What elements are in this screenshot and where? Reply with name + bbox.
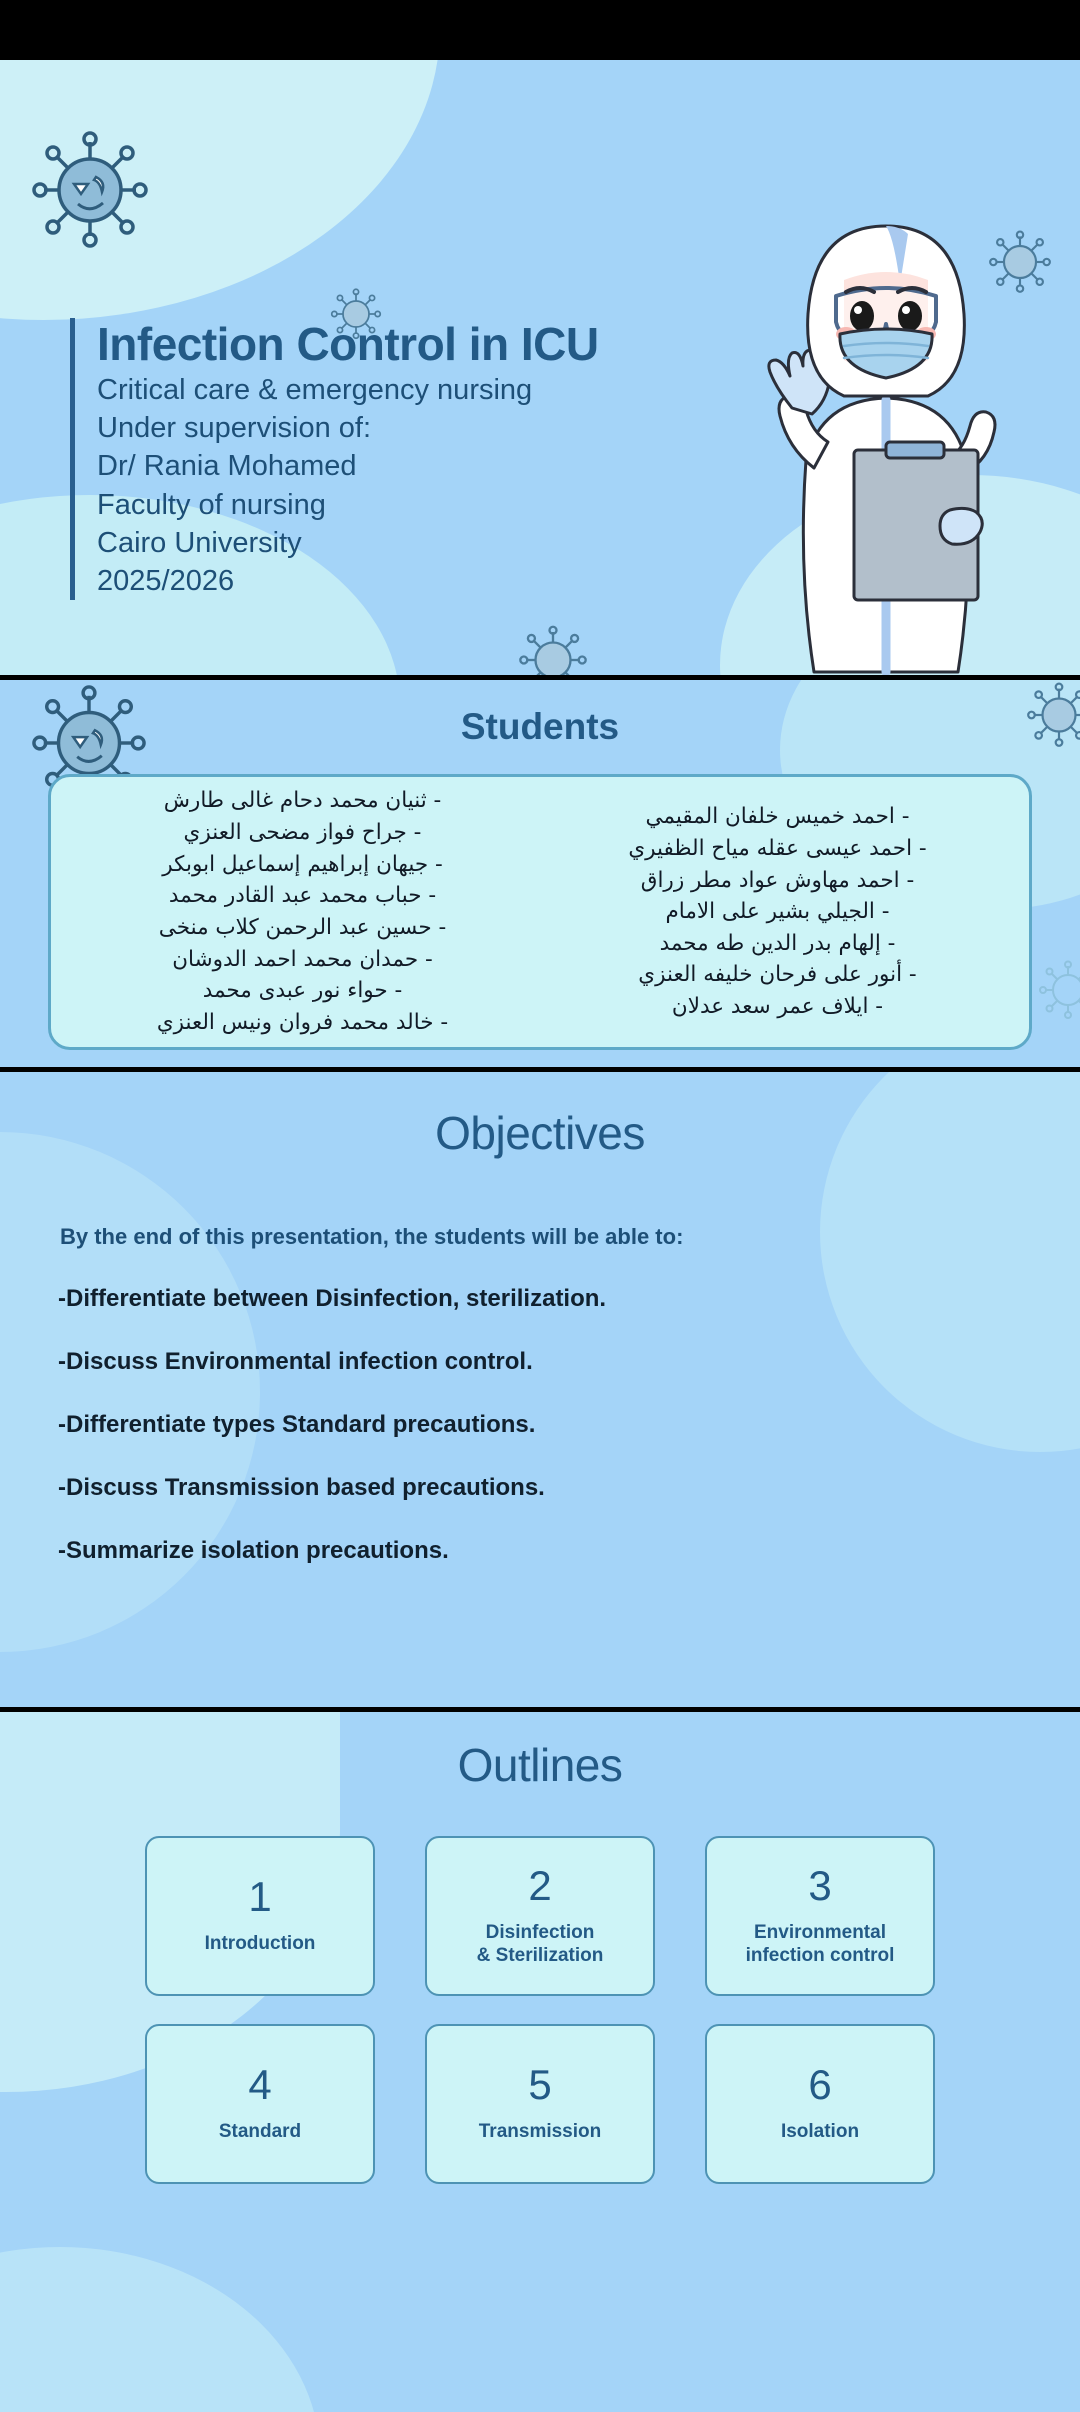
objective-item: -Discuss Environmental infection control…	[58, 1348, 1080, 1376]
ppe-healthcare-worker-illustration	[736, 210, 1036, 675]
students-heading: Students	[0, 680, 1080, 748]
list-item: - ثنيان محمد دحام غالى طارش	[65, 786, 540, 816]
students-card: - ثنيان محمد دحام غالى طارش - جراح فواز …	[48, 774, 1032, 1050]
background-blob-bottom-left	[0, 2247, 320, 2412]
objective-item: -Summarize isolation precautions.	[58, 1537, 1080, 1565]
outline-card-6[interactable]: 6 Isolation	[705, 2024, 935, 2184]
list-item: - ايلاف عمر سعد عدلان	[540, 992, 1015, 1022]
outline-card-4[interactable]: 4 Standard	[145, 2024, 375, 2184]
list-item: - أنور على فرحان خليفه العنزي	[540, 960, 1015, 990]
outline-card-5[interactable]: 5 Transmission	[425, 2024, 655, 2184]
title-line-faculty: Faculty of nursing	[97, 486, 710, 524]
title-block: Infection Control in ICU Critical care &…	[70, 318, 710, 600]
list-item: - جراح فواز مضحى العنزي	[65, 818, 540, 848]
slide-title: Infection Control in ICU Critical care &…	[0, 60, 1080, 675]
objectives-lead: By the end of this presentation, the stu…	[60, 1224, 1080, 1250]
card-label: Environmentalinfection control	[746, 1921, 895, 1967]
list-item: - خالد محمد فروان ونيس العنزي	[65, 1008, 540, 1038]
list-item: - احمد خميس خلفان المقيمي	[540, 802, 1015, 832]
card-number: 4	[248, 2064, 271, 2106]
list-item: - احمد عيسى عقله مياح الظفيري	[540, 834, 1015, 864]
outline-card-1[interactable]: 1 Introduction	[145, 1836, 375, 1996]
students-column-right: - احمد خميس خلفان المقيمي - احمد عيسى عق…	[540, 799, 1015, 1025]
title-line-1: Critical care & emergency nursing	[97, 371, 710, 409]
card-number: 2	[528, 1865, 551, 1907]
background-blob-left	[0, 1132, 260, 1652]
list-item: - إلهام بدر الدين طه محمد	[540, 929, 1015, 959]
slide-outlines: Outlines نفهم nafham.com 1 Introduction …	[0, 1707, 1080, 2412]
title-line-university: Cairo University	[97, 524, 710, 562]
virus-icon-lower	[518, 625, 588, 675]
title-line-year: 2025/2026	[97, 562, 710, 600]
slide-objectives: Objectives By the end of this presentati…	[0, 1067, 1080, 1707]
card-number: 6	[808, 2064, 831, 2106]
list-item: - جيهان إبراهيم إسماعيل ابوبكر	[65, 850, 540, 880]
list-item: - حباب محمد عبد القادر محمد	[65, 881, 540, 911]
card-label: Transmission	[479, 2120, 602, 2143]
page-title: Infection Control in ICU	[97, 318, 710, 371]
outline-cards-grid: 1 Introduction 2 Disinfection& Steriliza…	[145, 1836, 935, 2184]
list-item: - حسين عبد الرحمن كلاب منخى	[65, 913, 540, 943]
card-label: Introduction	[205, 1932, 316, 1955]
virus-icon-bottom-right	[1038, 960, 1080, 1020]
card-label: Standard	[219, 2120, 301, 2143]
card-number: 1	[248, 1876, 271, 1918]
card-label: Disinfection& Sterilization	[477, 1921, 604, 1967]
objective-item: -Discuss Transmission based precautions.	[58, 1474, 1080, 1502]
list-item: - الجيلي بشير على الامام	[540, 897, 1015, 927]
document-viewer[interactable]: Infection Control in ICU Critical care &…	[0, 60, 1080, 2412]
title-line-supervisor: Dr/ Rania Mohamed	[97, 447, 710, 485]
outline-card-2[interactable]: 2 Disinfection& Sterilization	[425, 1836, 655, 1996]
objective-item: -Differentiate types Standard precaution…	[58, 1411, 1080, 1439]
card-label: Isolation	[781, 2120, 859, 2143]
title-line-2: Under supervision of:	[97, 409, 710, 447]
outline-card-3[interactable]: 3 Environmentalinfection control	[705, 1836, 935, 1996]
card-number: 5	[528, 2064, 551, 2106]
objectives-heading: Objectives	[0, 1072, 1080, 1160]
slide-students: Students - ثنيان محمد دحام غالى طارش - ج…	[0, 675, 1080, 1067]
list-item: - حواء نور عبدى محمد	[65, 976, 540, 1006]
outlines-heading: Outlines	[0, 1712, 1080, 1792]
list-item: - حمدان محمد احمد الدوشان	[65, 945, 540, 975]
students-column-left: - ثنيان محمد دحام غالى طارش - جراح فواز …	[65, 799, 540, 1025]
card-number: 3	[808, 1865, 831, 1907]
list-item: - احمد مهاوش عواد مطر زراق	[540, 866, 1015, 896]
virus-icon	[30, 130, 150, 250]
objective-item: -Differentiate between Disinfection, ste…	[58, 1285, 1080, 1313]
